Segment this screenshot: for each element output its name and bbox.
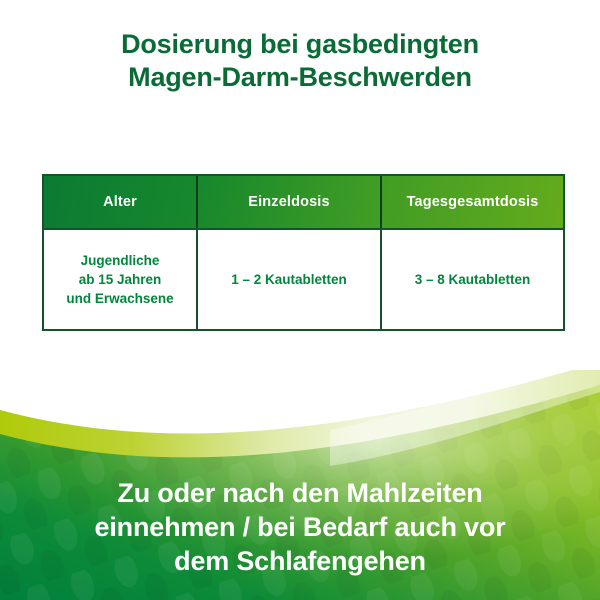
table-cell-tagesgesamtdosis: 3 – 8 Kautabletten xyxy=(380,230,563,329)
banner-instruction-text: Zu oder nach den Mahlzeiten einnehmen / … xyxy=(0,476,600,578)
table-header-tagesgesamtdosis: Tagesgesamtdosis xyxy=(380,176,563,228)
banner-line-1: Zu oder nach den Mahlzeiten xyxy=(0,476,600,510)
table-cell-einzeldosis: 1 – 2 Kautabletten xyxy=(196,230,380,329)
table-header-row: Alter Einzeldosis Tagesgesamtdosis xyxy=(44,176,563,230)
infographic-canvas: Dosierung bei gasbedingten Magen-Darm-Be… xyxy=(0,0,600,600)
table-row: Jugendliche ab 15 Jahren und Erwachsene … xyxy=(44,230,563,329)
banner-line-3: dem Schlafengehen xyxy=(0,544,600,578)
bottom-wave-banner: Zu oder nach den Mahlzeiten einnehmen / … xyxy=(0,370,600,600)
alter-line-1: Jugendliche xyxy=(66,251,173,270)
banner-line-2: einnehmen / bei Bedarf auch vor xyxy=(0,510,600,544)
title-line-2: Magen-Darm-Beschwerden xyxy=(0,61,600,94)
title-line-1: Dosierung bei gasbedingten xyxy=(0,28,600,61)
alter-line-2: ab 15 Jahren xyxy=(66,270,173,289)
table-header-alter: Alter xyxy=(44,176,196,228)
dosage-table: Alter Einzeldosis Tagesgesamtdosis Jugen… xyxy=(42,174,565,331)
page-title: Dosierung bei gasbedingten Magen-Darm-Be… xyxy=(0,28,600,94)
table-header-einzeldosis: Einzeldosis xyxy=(196,176,380,228)
alter-line-3: und Erwachsene xyxy=(66,289,173,308)
table-cell-alter: Jugendliche ab 15 Jahren und Erwachsene xyxy=(44,230,196,329)
